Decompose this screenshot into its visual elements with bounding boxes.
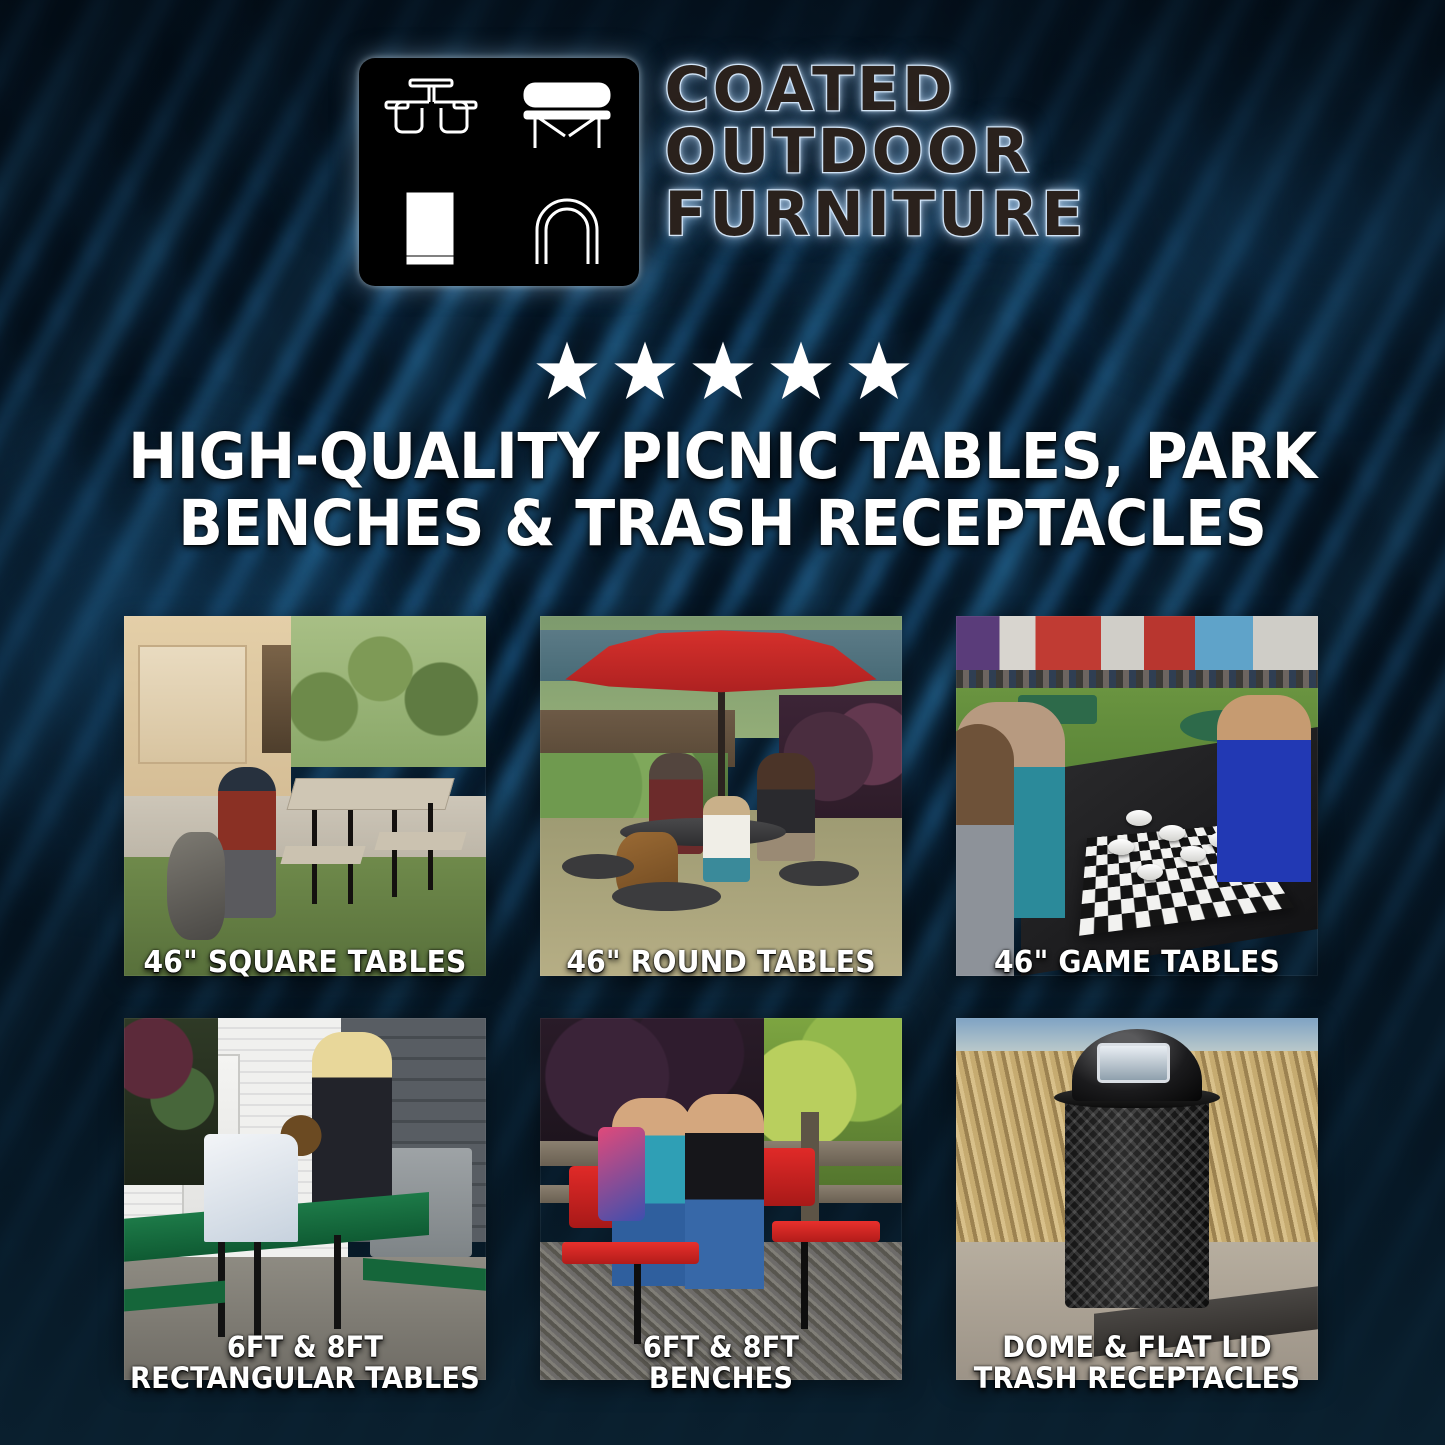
product-image-round-tables — [540, 616, 902, 976]
product-image-rectangular-tables — [124, 1018, 486, 1380]
product-tile-round-tables[interactable]: 46" ROUND TABLES — [540, 616, 902, 976]
picnic-table-icon — [364, 63, 497, 170]
star-icon — [769, 340, 833, 402]
bike-rack-icon — [501, 175, 634, 282]
product-image-square-tables — [124, 616, 486, 976]
brand-wordmark: COATED OUTDOOR FURNITURE — [665, 58, 1087, 245]
headline-line-1: HIGH-QUALITY PICNIC TABLES, PARK — [106, 424, 1338, 491]
star-icon — [691, 340, 755, 402]
star-icon — [613, 340, 677, 402]
product-grid: 46" SQUARE TABLES — [124, 616, 1322, 1380]
headline-line-2: BENCHES & TRASH RECEPTACLES — [106, 491, 1338, 558]
bench-table-icon — [501, 63, 634, 170]
brand-name-line-3: FURNITURE — [665, 185, 1087, 245]
product-image-benches — [540, 1018, 902, 1380]
star-icon — [535, 340, 599, 402]
product-tile-square-tables[interactable]: 46" SQUARE TABLES — [124, 616, 486, 976]
product-image-trash-receptacles — [956, 1018, 1318, 1380]
brand-name-line-1: COATED — [665, 60, 1087, 120]
trash-receptacle-icon — [364, 175, 497, 282]
product-tile-trash-receptacles[interactable]: DOME & FLAT LID TRASH RECEPTACLES — [956, 1018, 1318, 1380]
brand-logo: COATED OUTDOOR FURNITURE — [0, 58, 1445, 286]
product-tile-rectangular-tables[interactable]: 6FT & 8FT RECTANGULAR TABLES — [124, 1018, 486, 1380]
promo-graphic: COATED OUTDOOR FURNITURE HIGH-QUALITY PI… — [0, 0, 1445, 1445]
product-tile-benches[interactable]: 6FT & 8FT BENCHES — [540, 1018, 902, 1380]
product-tile-game-tables[interactable]: 46" GAME TABLES — [956, 616, 1318, 976]
product-image-game-tables — [956, 616, 1318, 976]
brand-name-line-2: OUTDOOR — [665, 122, 1087, 182]
star-rating — [0, 340, 1445, 402]
star-icon — [847, 340, 911, 402]
page-title: HIGH-QUALITY PICNIC TABLES, PARK BENCHES… — [106, 424, 1338, 558]
logo-icon-grid — [359, 58, 639, 286]
